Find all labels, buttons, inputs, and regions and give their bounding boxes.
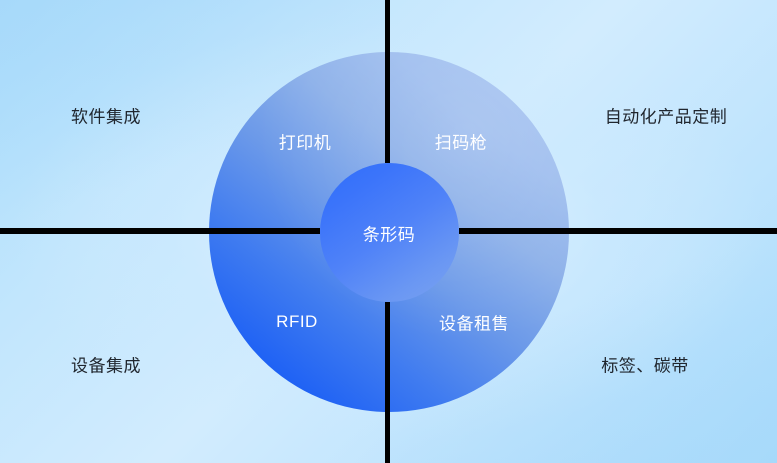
ring-label-printer: 打印机: [279, 129, 332, 154]
quadrant-label-software-integration: 软件集成: [71, 103, 141, 128]
quadrant-label-labels-ribbons: 标签、碳带: [601, 352, 689, 377]
cross-line-horizontal-left: [0, 228, 320, 234]
quadrant-label-device-integration: 设备集成: [71, 352, 141, 377]
cross-line-vertical-bottom: [385, 302, 390, 463]
diagram-canvas: 软件集成 自动化产品定制 设备集成 标签、碳带 打印机 扫码枪 RFID 设备租…: [0, 0, 777, 463]
ring-label-scanner: 扫码枪: [435, 129, 488, 154]
ring-label-rfid: RFID: [276, 312, 318, 332]
cross-line-horizontal-right: [459, 228, 777, 234]
cross-line-vertical-top: [385, 0, 390, 163]
ring-label-equipment-rental: 设备租售: [439, 310, 509, 335]
center-label-barcode: 条形码: [363, 221, 416, 246]
quadrant-label-automation-customized: 自动化产品定制: [605, 103, 728, 128]
